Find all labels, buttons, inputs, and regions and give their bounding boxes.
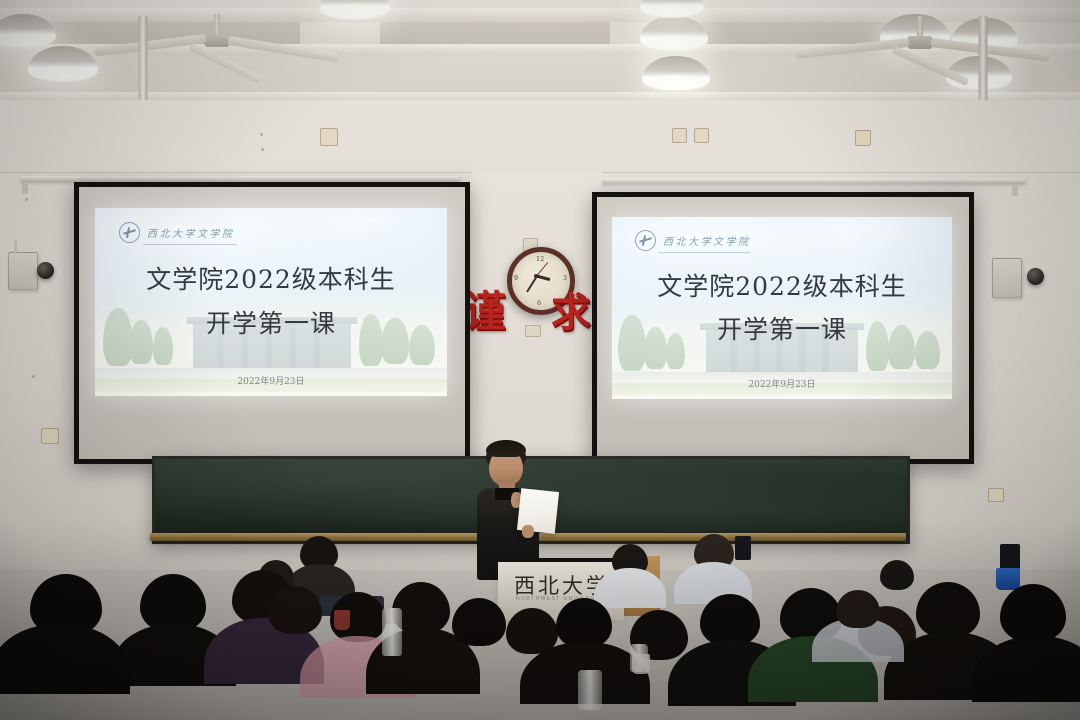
electrical-box [8,252,38,290]
wall-outlet [855,130,871,146]
phone[interactable] [1000,544,1020,570]
projection-screen[interactable]: 西北大学文学院 文学院2022级本科生 开学第一课 2022年9月23日 [592,192,974,464]
camera-arm [14,240,17,254]
screen-rail [20,176,460,181]
slide-left: 西北大学文学院 文学院2022级本科生 开学第一课 2022年9月23日 [95,208,447,396]
slide-logo-rule [658,252,750,253]
audience-head [880,560,914,590]
security-camera [1027,268,1044,285]
audience-head [1000,584,1066,642]
university-seal-icon [635,230,656,251]
audience-head [916,582,980,638]
screen-rail-hook [22,182,28,194]
wall-mark [25,198,28,201]
audience [0,490,1080,720]
screen-surface: 西北大学文学院 文学院2022级本科生 开学第一课 2022年9月23日 [79,187,465,459]
presenter-hair [486,440,526,457]
paper-cup [334,610,350,630]
slide-title-line1: 文学院2022级本科生 [612,267,952,303]
electrical-box [992,258,1022,298]
water-bottle [578,670,602,710]
slide-date: 2022年9月23日 [95,374,447,387]
slide-title-line2: 开学第一课 [95,304,447,340]
clock-hour-hand [536,275,550,282]
clock-numeral: 6 [537,299,541,307]
audience-head [452,598,506,646]
slide-title-line2: 开学第一课 [612,310,952,346]
wall-outlet [672,128,687,143]
screen-rail [576,178,1026,183]
clock-minute-hand [526,275,538,292]
slide-logo-text: 西北大学文学院 [663,233,751,248]
university-seal-icon [119,222,140,243]
wall-mark [261,148,264,151]
clock-second-hand [536,262,548,276]
slide-logo-text: 西北大学文学院 [147,225,235,240]
ceiling-panel [380,22,610,44]
slide-date: 2022年9月23日 [612,377,952,390]
phone[interactable] [735,536,751,560]
security-camera [37,262,54,279]
clock-numeral: 9 [514,274,518,282]
audience-head [268,586,322,634]
screen-rail-hook [1012,184,1018,196]
paper-cup [632,654,650,674]
wall-mark [32,375,35,378]
wall-outlet [694,128,709,143]
screen-surface: 西北大学文学院 文学院2022级本科生 开学第一课 2022年9月23日 [597,197,969,459]
audience-shoulder [594,568,666,608]
dome-light [640,0,704,18]
wall-mark [260,133,263,136]
audience-head [700,594,760,646]
lecture-hall-photo: 12 3 6 9 谨 求 [0,0,1080,720]
wall-motto-char-left: 谨 [464,278,506,339]
wall-outlet [320,128,338,146]
slide-logo: 西北大学文学院 [119,222,235,243]
water-bottle [382,608,402,656]
water-bottle-blue [996,568,1020,590]
wall-outlet [41,428,59,444]
audience-head [556,598,612,648]
audience-shoulder [0,624,130,694]
audience-head [836,590,880,628]
wall-plaque [525,325,541,337]
slide-title-line1: 文学院2022级本科生 [95,260,447,296]
slide-logo: 西北大学文学院 [635,230,751,251]
wall-motto-char-right: 求 [551,280,591,338]
clock-numeral: 12 [536,255,544,263]
slide-right: 西北大学文学院 文学院2022级本科生 开学第一课 2022年9月23日 [612,217,952,399]
projection-screen[interactable]: 西北大学文学院 文学院2022级本科生 开学第一课 2022年9月23日 [74,182,470,464]
slide-logo-rule [143,244,237,245]
